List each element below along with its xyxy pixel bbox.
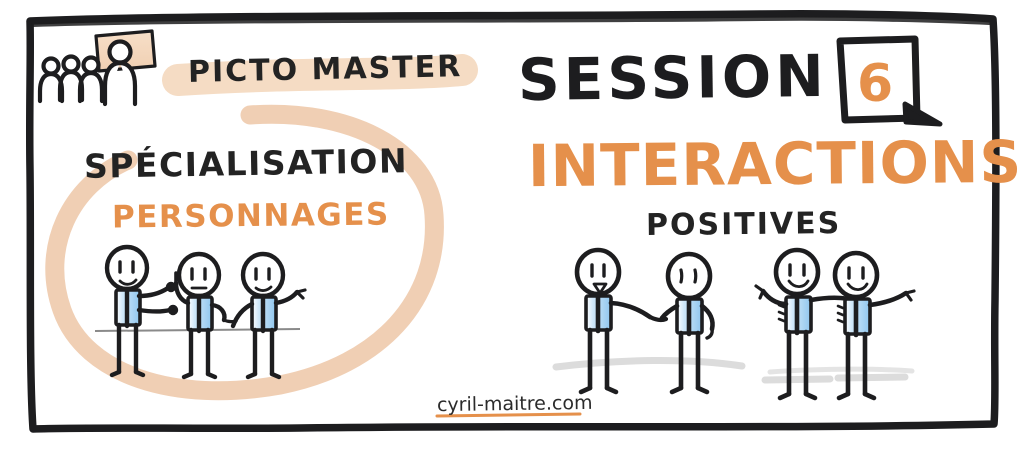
left-title-personnages: PERSONNAGES <box>112 197 390 236</box>
poster-canvas: PICTO MASTER SPÉCIALISATION PERSONNAGES … <box>0 0 1024 454</box>
three-stick-figures-gesturing <box>95 247 305 377</box>
two-stick-figures-handshake <box>556 250 742 392</box>
left-title-specialisation: SPÉCIALISATION <box>84 141 409 186</box>
presenter-audience-icon <box>40 31 155 104</box>
badge-picto-master: PICTO MASTER <box>188 49 463 90</box>
two-stick-figures-arm-around-shoulder <box>756 250 914 398</box>
session-word: SESSION <box>518 42 829 114</box>
subtitle-interactions: INTERACTIONS <box>528 128 1023 200</box>
website-credit[interactable]: cyril-maitre.com <box>437 392 593 416</box>
session-number: 6 <box>857 54 894 114</box>
subtitle-positives: POSITIVES <box>646 206 842 243</box>
